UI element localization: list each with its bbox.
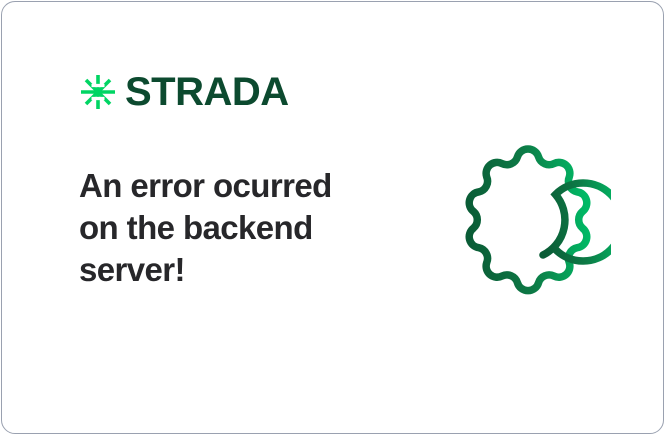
strada-asterisk-mark-icon	[78, 72, 118, 112]
brand-logo-lockup: STRADA	[78, 72, 289, 112]
error-card: STRADA An error ocurred on the backend s…	[1, 1, 664, 434]
error-heading: An error ocurred on the backend server!	[79, 165, 369, 291]
brand-wordmark: STRADA	[125, 72, 289, 112]
